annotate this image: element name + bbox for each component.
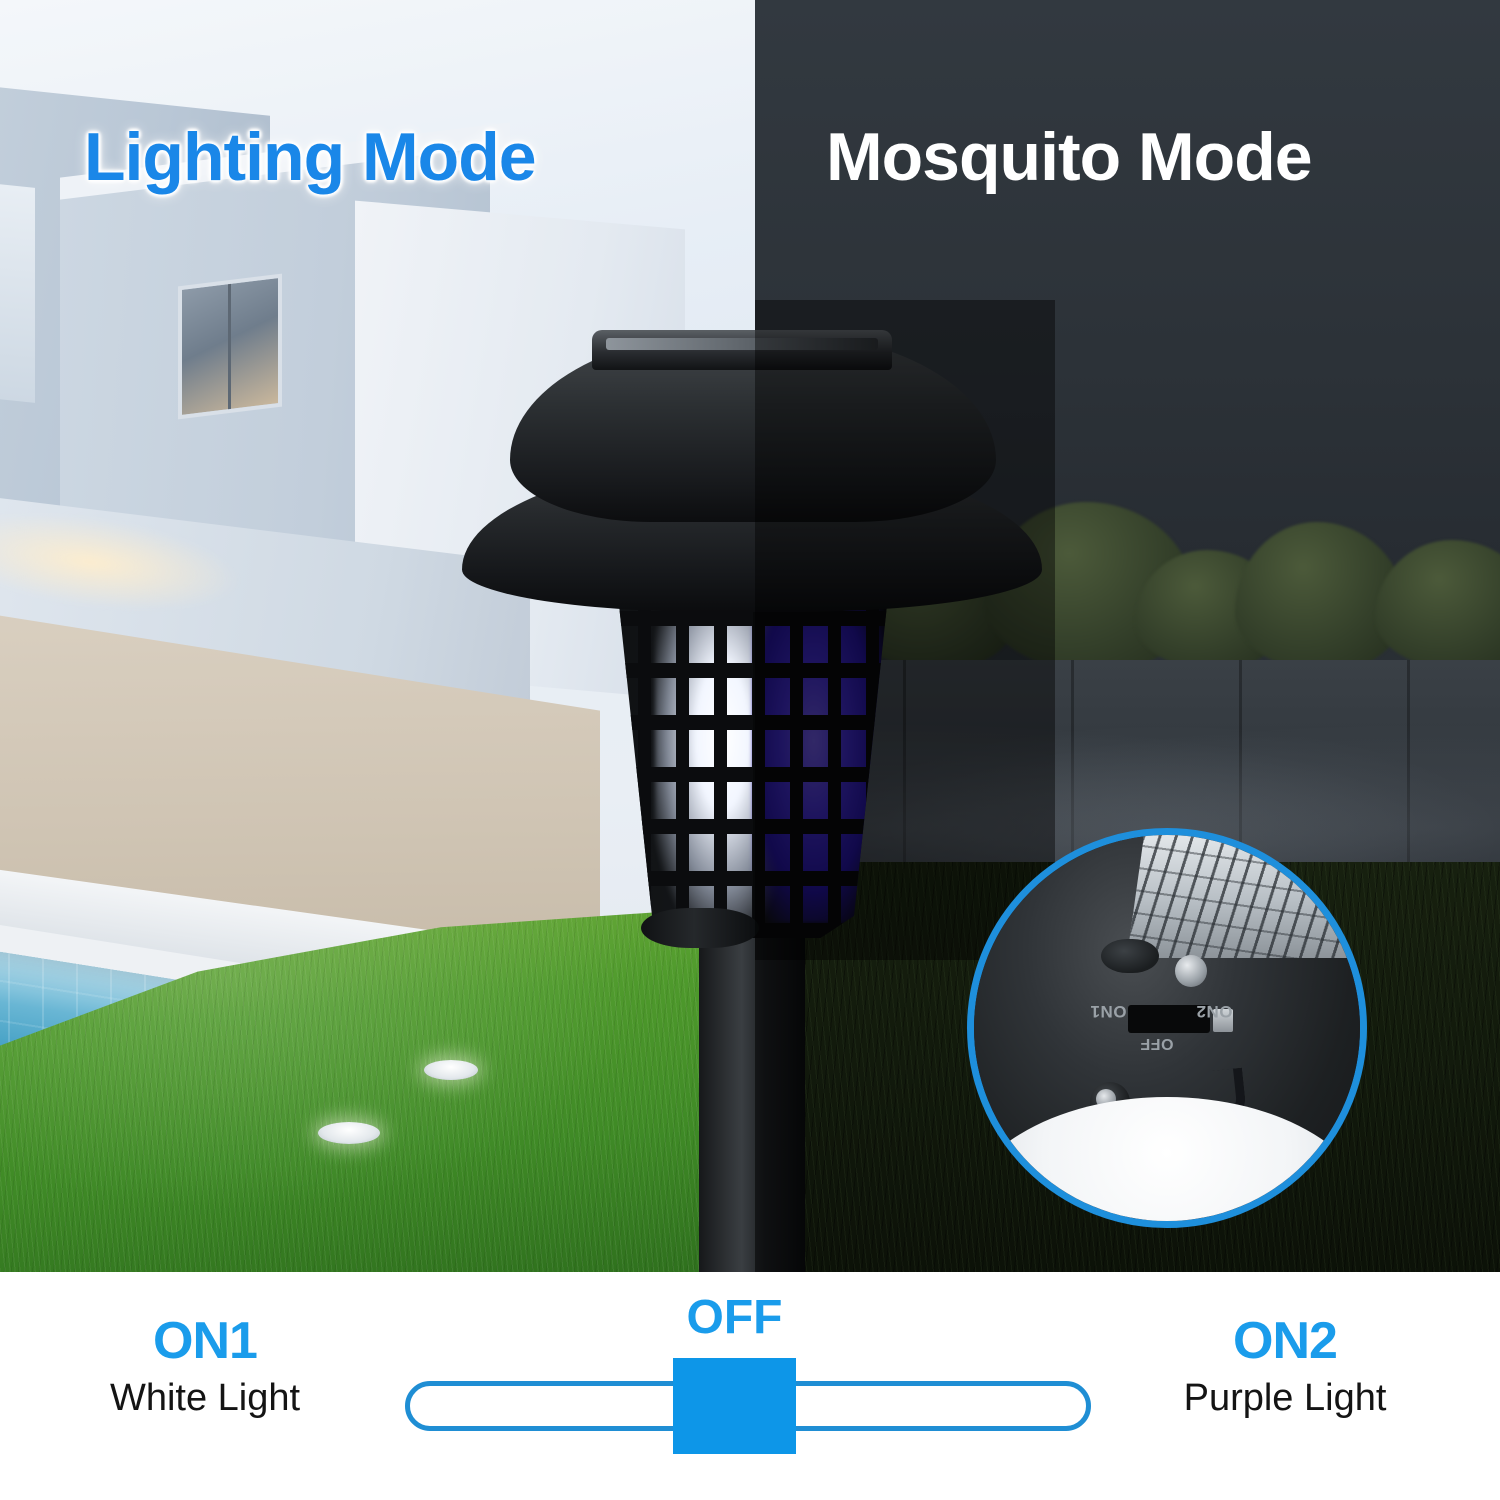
mode-on1-name: ON1 [40, 1314, 370, 1369]
mode-on1-description: White Light [40, 1377, 370, 1421]
mode-option-on1[interactable]: ON1 White Light [40, 1314, 370, 1420]
mode-option-on2[interactable]: ON2 Purple Light [1120, 1314, 1450, 1420]
mode-off-name: OFF [673, 1290, 796, 1345]
mode-on2-name: ON2 [1120, 1314, 1450, 1369]
right-panel-title: Mosquito Mode [826, 118, 1312, 196]
product-feature-image: ON1 ON2 OFF Lighting Mode Mosquito Mode … [0, 0, 1500, 1500]
inset-label-off: OFF [1140, 1034, 1174, 1052]
inset-label-on2: ON2 [1196, 1001, 1232, 1021]
switch-closeup-inset: ON1 ON2 OFF [967, 828, 1367, 1228]
inset-mount-boss [1101, 939, 1159, 973]
screw-icon [1175, 955, 1207, 987]
inset-metal-grid [1127, 828, 1367, 959]
mode-on2-description: Purple Light [1120, 1377, 1450, 1421]
cage-base-ring [641, 908, 759, 948]
switch-knob[interactable] [673, 1358, 796, 1454]
lamp-head-night-shade [755, 300, 1055, 960]
inset-label-on1: ON1 [1090, 1001, 1126, 1021]
split-scene-photo: ON1 ON2 OFF Lighting Mode Mosquito Mode [0, 0, 1500, 1272]
left-panel-title: Lighting Mode [84, 118, 536, 196]
